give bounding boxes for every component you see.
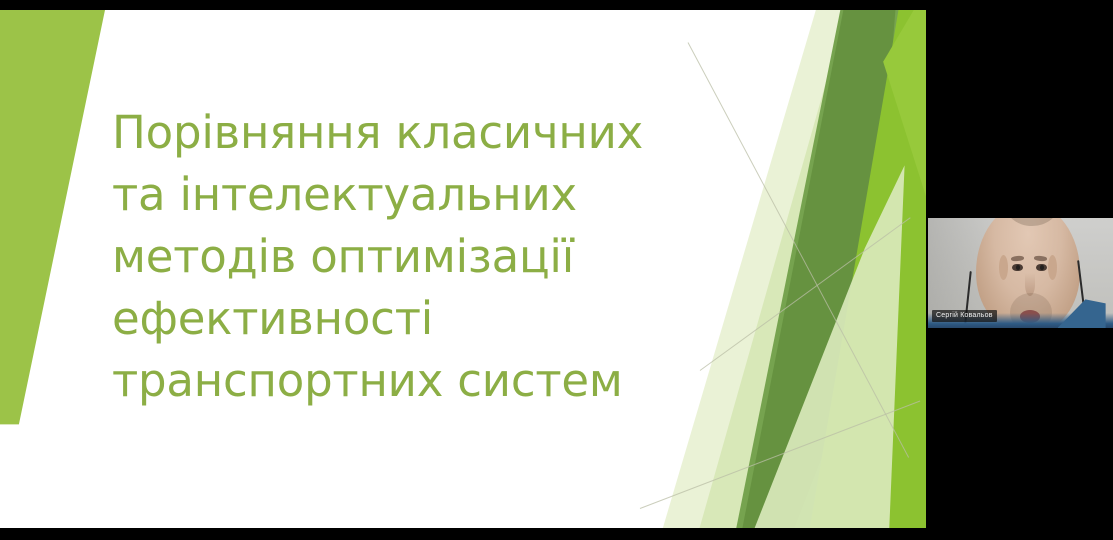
slide-decor-hairline bbox=[640, 401, 920, 509]
shared-slide[interactable]: Порівняння класичних та інтелектуальних … bbox=[0, 10, 926, 528]
ear-right-shape bbox=[1048, 255, 1057, 281]
eyebrow-right bbox=[1034, 255, 1048, 261]
hairline-shading bbox=[1005, 218, 1059, 226]
eye-left bbox=[1012, 264, 1022, 272]
participant-video-tile[interactable]: Сергій Ковальов bbox=[928, 218, 1113, 328]
eyebrow-left bbox=[1011, 255, 1025, 261]
slide-decor-hairline bbox=[688, 42, 910, 457]
participant-name-badge: Сергій Ковальов bbox=[932, 310, 997, 322]
meeting-screen: Порівняння класичних та інтелектуальних … bbox=[0, 0, 1113, 540]
slide-decor-hairline bbox=[700, 217, 911, 371]
slide-left-green-wedge bbox=[0, 10, 105, 528]
eye-right bbox=[1036, 264, 1046, 272]
ear-left-shape bbox=[999, 255, 1008, 281]
slide-title: Порівняння класичних та інтелектуальних … bbox=[112, 102, 702, 412]
